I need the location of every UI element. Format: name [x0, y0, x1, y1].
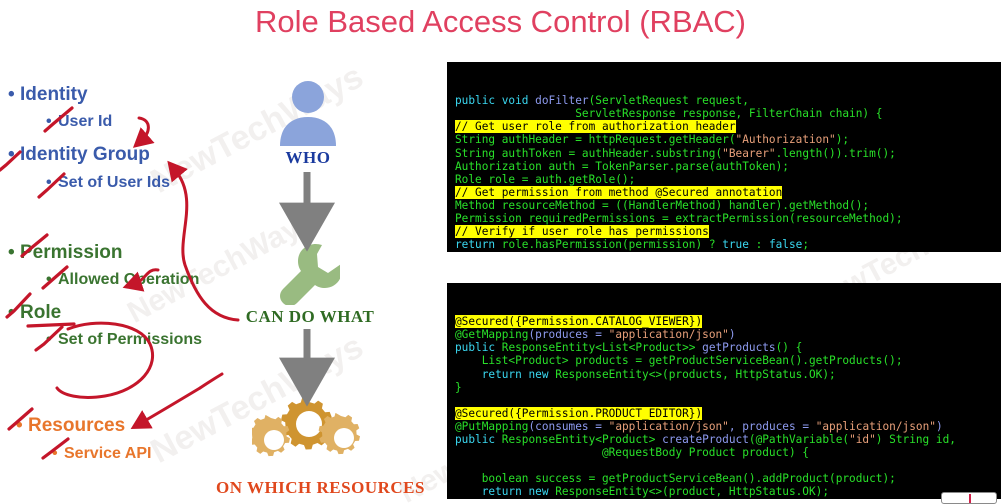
- corner-indicator: [941, 492, 997, 504]
- flow-label-on-which-resources: ON WHICH RESOURCES: [216, 478, 406, 498]
- code-token: "application/json": [609, 420, 729, 433]
- code-line: List<Product> products = getProductServi…: [455, 354, 1001, 367]
- code-token: return new: [455, 368, 555, 381]
- concept-label: Service API: [64, 445, 151, 462]
- flow-label-who: WHO: [256, 148, 360, 168]
- annotation-arrow-to-resources: [141, 388, 200, 423]
- code-token: ResponseEntity<>(product, HttpStatus.OK)…: [555, 485, 829, 498]
- concept-set-of-user-ids: •Set of User Ids: [46, 174, 170, 192]
- code-token: String authToken = authHeader.substring(: [455, 147, 722, 160]
- code-token: return new: [455, 485, 555, 498]
- concept-label: User Id: [58, 113, 112, 130]
- code-token: @Secured({Permission.CATALOG_VIEWER}): [455, 315, 702, 328]
- code-line: [455, 394, 1001, 407]
- bullet-icon: •: [8, 242, 20, 264]
- code-line: Permission requiredPermissions = extract…: [455, 212, 1001, 225]
- code-token: return: [455, 238, 502, 251]
- code-line: return new ResponseEntity<>(product, Htt…: [455, 485, 1001, 498]
- concept-service-api: •Service API: [52, 445, 151, 463]
- concept-identity-group: •Identity Group: [8, 144, 150, 166]
- page-title: Role Based Access Control (RBAC): [0, 0, 1001, 42]
- code-token: ) String id,: [876, 433, 956, 446]
- code-line: [455, 459, 1001, 472]
- code-token: :: [749, 238, 769, 251]
- code-line: @GetMapping(produces = "application/json…: [455, 328, 1001, 341]
- code-token: Authorization auth = TokenParser.parse(a…: [455, 160, 789, 173]
- annotation-arrow-tail: [200, 374, 222, 388]
- code-token: getProducts: [702, 341, 775, 354]
- code-token: (ServletRequest request,: [589, 94, 749, 107]
- code-line: @RequestBody Product product) {: [455, 446, 1001, 459]
- code-token: ;: [802, 238, 809, 251]
- code-line: return role.hasPermission(permission) ? …: [455, 238, 1001, 251]
- flow-label-can-do-what: CAN DO WHAT: [240, 307, 380, 327]
- wrench-icon: [280, 243, 340, 310]
- code-token: @Secured({Permission.PRODUCT_EDITOR}): [455, 407, 702, 420]
- bullet-icon: •: [52, 445, 64, 463]
- code-token: true: [722, 238, 749, 251]
- code-token: "application/json": [609, 328, 729, 341]
- annotation-arrow-userid-to-group: [139, 118, 148, 140]
- slide-canvas: Role Based Access Control (RBAC) NewTech…: [0, 0, 1001, 504]
- concept-set-of-permissions: •Set of Permissions: [46, 331, 202, 349]
- code-line: // Get permission from method @Secured a…: [455, 186, 1001, 199]
- code-token: @RequestBody Product product) {: [455, 446, 809, 459]
- code-token: false: [769, 238, 802, 251]
- code-line: }: [455, 381, 1001, 394]
- code-token: // Get user role from authorization head…: [455, 120, 736, 133]
- code-token: () {: [776, 341, 803, 354]
- concept-label: Identity Group: [20, 144, 150, 165]
- code-token: "application/json": [816, 420, 936, 433]
- code-token: "Authorization": [736, 133, 836, 146]
- bullet-icon: •: [46, 174, 58, 192]
- code-line: @PutMapping(consumes = "application/json…: [455, 420, 1001, 433]
- bullet-icon: •: [46, 271, 58, 289]
- code-panel-controller: @Secured({Permission.CATALOG_VIEWER})@Ge…: [447, 283, 1001, 499]
- code-token: public: [455, 433, 502, 446]
- concept-identity: •Identity: [8, 84, 88, 106]
- concept-role: •Role: [8, 302, 61, 324]
- code-token: "Bearer": [722, 147, 775, 160]
- code-line: ServletResponse response, FilterChain ch…: [455, 107, 1001, 120]
- code-token: ): [936, 420, 943, 433]
- code-token: boolean success = getProductServiceBean(…: [455, 472, 896, 485]
- role-underline: [28, 324, 74, 326]
- code-line: Role role = auth.getRole();: [455, 173, 1001, 186]
- code-line: public ResponseEntity<Product> createPro…: [455, 433, 1001, 446]
- code-token: (consumes =: [528, 420, 608, 433]
- bullet-icon: •: [8, 84, 20, 106]
- code-token: .length()).trim();: [776, 147, 896, 160]
- code-line: String authToken = authHeader.substring(…: [455, 147, 1001, 160]
- code-token: Method resourceMethod = ((HandlerMethod)…: [455, 199, 869, 212]
- concept-allowed-operation: •Allowed Operation: [46, 271, 199, 289]
- code-token: ResponseEntity<>(products, HttpStatus.OK…: [555, 368, 836, 381]
- code-token: }: [455, 381, 462, 394]
- corner-tick: [969, 494, 971, 503]
- bullet-icon: •: [46, 331, 58, 349]
- code-token: Role role = auth.getRole();: [455, 173, 635, 186]
- code-token: role.hasPermission(permission) ?: [502, 238, 722, 251]
- code-line: boolean success = getProductServiceBean(…: [455, 472, 1001, 485]
- bullet-icon: •: [8, 144, 20, 166]
- code-token: @GetMapping: [455, 328, 528, 341]
- code-line: Authorization auth = TokenParser.parse(a…: [455, 160, 1001, 173]
- concept-permission: •Permission: [8, 242, 122, 264]
- code-token: ServletResponse response, FilterChain ch…: [455, 107, 882, 120]
- code-line: Method resourceMethod = ((HandlerMethod)…: [455, 199, 1001, 212]
- code-token: Permission requiredPermissions = extract…: [455, 212, 903, 225]
- code-token: doFilter: [535, 94, 588, 107]
- code-token: String authHeader = httpRequest.getHeade…: [455, 133, 736, 146]
- code-line: return new ResponseEntity<>(products, Ht…: [455, 368, 1001, 381]
- code-line: @Secured({Permission.PRODUCT_EDITOR}): [455, 407, 1001, 420]
- code-line: public void doFilter(ServletRequest requ…: [455, 94, 1001, 107]
- person-icon: [276, 80, 340, 151]
- concept-label: Permission: [20, 242, 122, 263]
- concept-resources: •Resources: [16, 415, 125, 437]
- concept-user-id: •User Id: [46, 113, 112, 131]
- code-token: // Get permission from method @Secured a…: [455, 186, 782, 199]
- code-token: List<Product> products = getProductServi…: [455, 354, 903, 367]
- code-token: public void: [455, 94, 535, 107]
- code-line: @Secured({Permission.CATALOG_VIEWER}): [455, 315, 1001, 328]
- concept-label: Set of Permissions: [58, 331, 202, 348]
- concept-label: Allowed Operation: [58, 271, 199, 288]
- code-line: String authHeader = httpRequest.getHeade…: [455, 133, 1001, 146]
- concept-label: Role: [20, 302, 61, 323]
- code-token: }: [455, 499, 462, 500]
- code-panel-filter: public void doFilter(ServletRequest requ…: [447, 62, 1001, 252]
- code-token: (produces =: [528, 328, 608, 341]
- code-line: }: [455, 499, 1001, 500]
- code-token: (@PathVariable(: [749, 433, 849, 446]
- gears-icon: [252, 392, 374, 475]
- code-token: public: [455, 341, 502, 354]
- code-body-filter: public void doFilter(ServletRequest requ…: [447, 88, 1001, 252]
- code-token: @PutMapping: [455, 420, 528, 433]
- code-line: // Verify if user role has permissions: [455, 225, 1001, 238]
- code-line: }: [455, 251, 1001, 252]
- annotation-arrow-role-to-identity-group: [175, 170, 238, 320]
- code-line: public ResponseEntity<List<Product>> get…: [455, 341, 1001, 354]
- code-token: createProduct: [662, 433, 749, 446]
- code-line: // Get user role from authorization head…: [455, 120, 1001, 133]
- code-token: , produces =: [729, 420, 816, 433]
- code-token: ResponseEntity<List<Product>>: [502, 341, 702, 354]
- code-token: );: [836, 133, 849, 146]
- code-token: "id": [849, 433, 876, 446]
- bullet-icon: •: [16, 415, 28, 437]
- bullet-icon: •: [8, 302, 20, 324]
- concept-label: Identity: [20, 84, 88, 105]
- code-token: ): [729, 328, 736, 341]
- code-token: // Verify if user role has permissions: [455, 225, 709, 238]
- bullet-icon: •: [46, 113, 58, 131]
- concept-label: Set of User Ids: [58, 174, 170, 191]
- code-token: ResponseEntity<Product>: [502, 433, 662, 446]
- code-body-controller: @Secured({Permission.CATALOG_VIEWER})@Ge…: [447, 309, 1001, 499]
- concept-label: Resources: [28, 415, 125, 436]
- code-token: }: [455, 251, 462, 252]
